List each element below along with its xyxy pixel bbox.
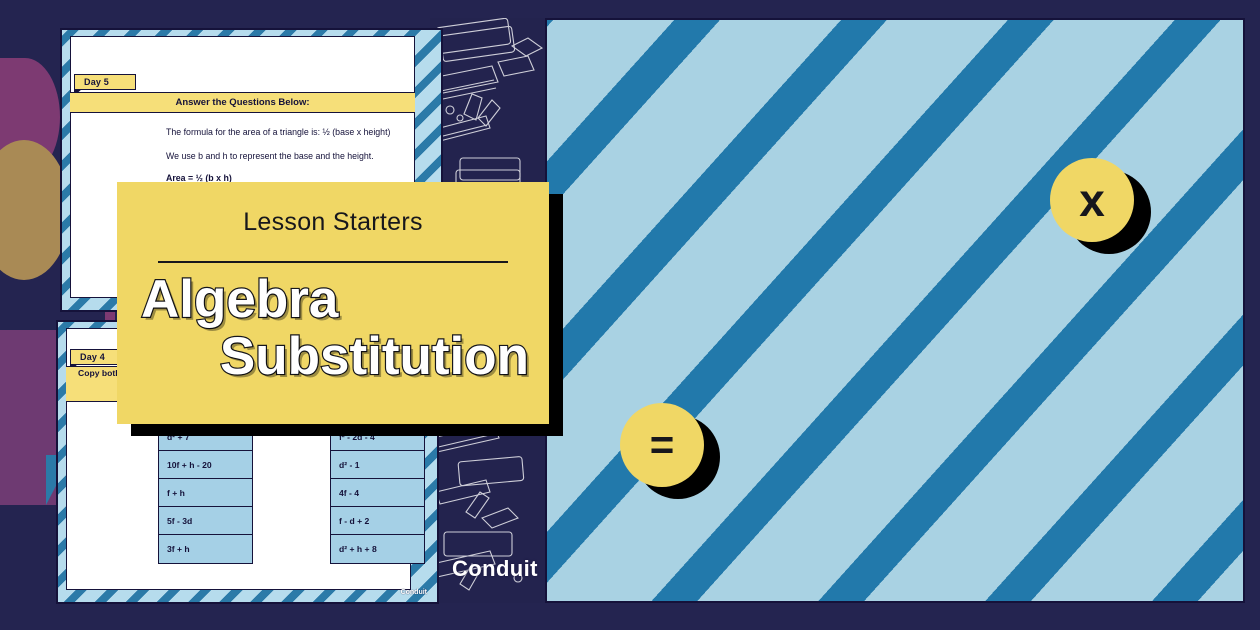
list-item: f - d + 2 xyxy=(331,507,424,535)
list-item: 10f + h - 20 xyxy=(159,451,252,479)
slide-banner: Answer the Questions Below: xyxy=(70,92,415,113)
list-item: d² + h + 8 xyxy=(331,535,424,563)
equals-symbol-badge: = xyxy=(620,403,704,487)
lesson-title: Algebra Substitution xyxy=(117,273,549,383)
x-symbol-badge: x xyxy=(1050,158,1134,242)
list-item: d² - 1 xyxy=(331,451,424,479)
list-item: 3f + h xyxy=(159,535,252,563)
slide-body-line-1: The formula for the area of a triangle i… xyxy=(166,127,390,139)
brand-logo: Conduit xyxy=(452,556,538,582)
title-divider xyxy=(158,261,508,263)
lesson-eyebrow: Lesson Starters xyxy=(243,208,423,237)
list-item: 4f - 4 xyxy=(331,479,424,507)
slide-watermark: Conduit xyxy=(401,589,427,596)
slide-day-tab: Day 5 xyxy=(74,74,136,90)
lesson-title-card: Lesson Starters Algebra Substitution xyxy=(117,182,549,424)
list-item: 5f - 3d xyxy=(159,507,252,535)
diagonal-stripe-background xyxy=(545,18,1245,603)
lesson-title-line-2: Substitution xyxy=(133,330,533,383)
lesson-title-line-1: Algebra xyxy=(133,273,533,326)
expression-column-left: d² + 7 10f + h - 20 f + h 5f - 3d 3f + h xyxy=(158,422,253,564)
lesson-cover-panel xyxy=(545,18,1245,603)
expression-column-right: f² - 2d - 4 d² - 1 4f - 4 f - d + 2 d² +… xyxy=(330,422,425,564)
screenshot-root: Day 5 Answer the Questions Below: The fo… xyxy=(0,0,1260,630)
list-item: f + h xyxy=(159,479,252,507)
slide-body-line-2: We use b and h to represent the base and… xyxy=(166,151,374,163)
